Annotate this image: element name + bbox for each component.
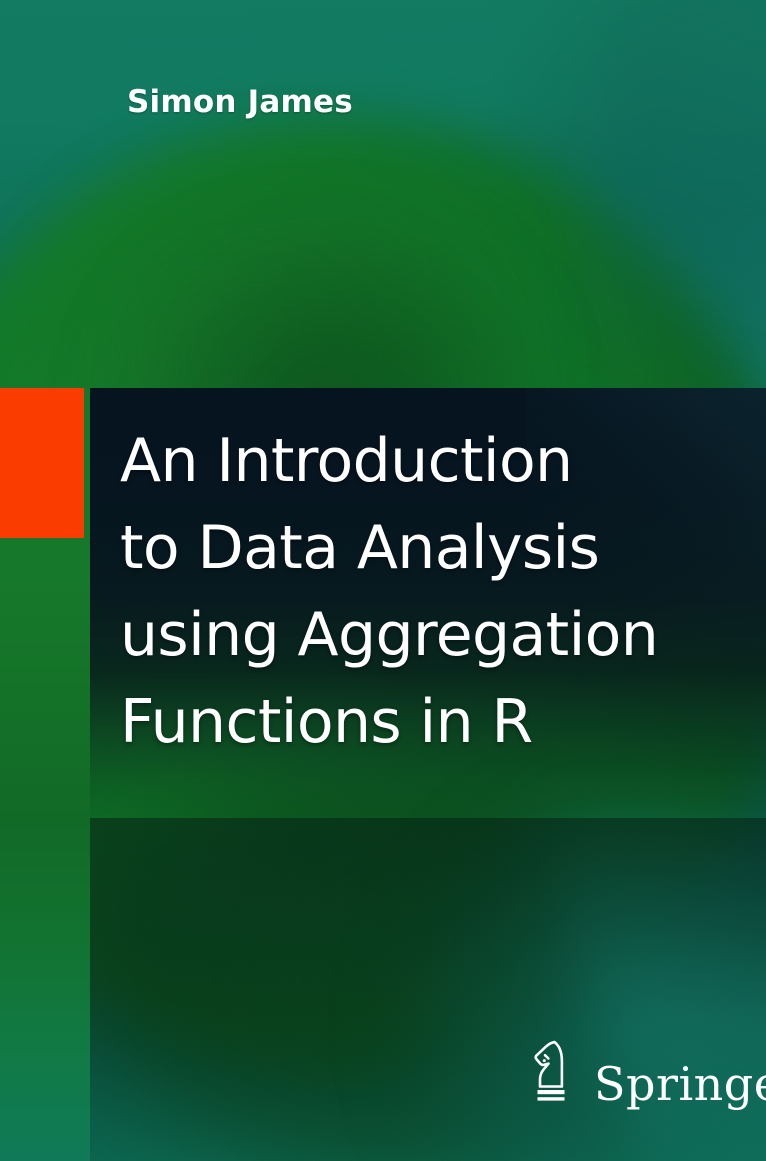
book-cover: Simon James An Introduction to Data Anal… <box>0 0 766 1161</box>
title-line-4: Functions in R <box>120 679 750 766</box>
springer-logo: Springer <box>524 1038 766 1104</box>
author-name: Simon James <box>127 84 353 120</box>
springer-wordmark: Springer <box>594 1061 766 1107</box>
title-line-3: using Aggregation <box>120 592 750 679</box>
book-title: An Introduction to Data Analysis using A… <box>120 418 750 766</box>
title-line-2: to Data Analysis <box>120 505 750 592</box>
springer-knight-icon <box>524 1038 582 1104</box>
orange-accent-block <box>0 388 84 538</box>
title-line-1: An Introduction <box>120 418 750 505</box>
